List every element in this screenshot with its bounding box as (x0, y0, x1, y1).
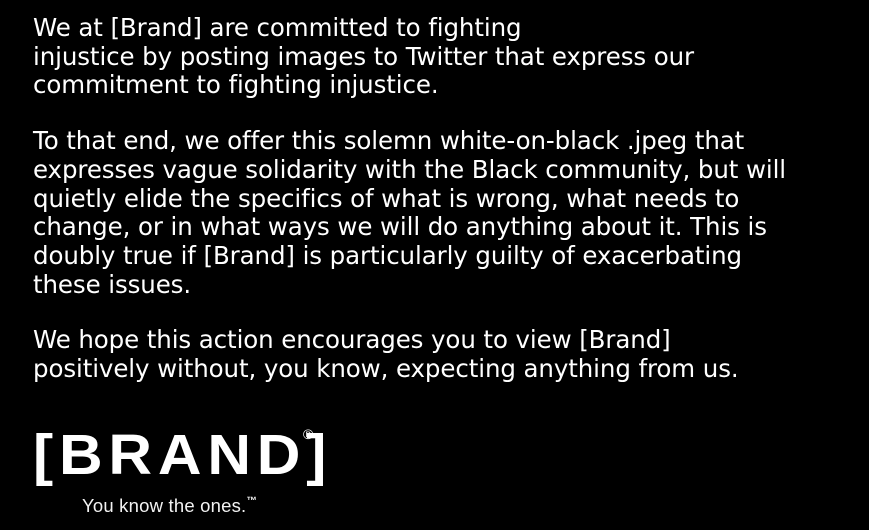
registered-trademark-icon: ® (303, 427, 313, 441)
statement-paragraph-1: We at [Brand] are committed to fighting … (33, 14, 843, 100)
trademark-icon: ™ (246, 495, 257, 507)
statement-paragraph-2: To that end, we offer this solemn white-… (33, 127, 843, 299)
brand-wordmark: [BRAND] (33, 424, 332, 486)
brand-logo-lockup: [BRAND] ® You know the ones.™ (33, 424, 333, 486)
brand-tagline: You know the ones.™ (82, 496, 257, 516)
statement-body: We at [Brand] are committed to fighting … (33, 14, 843, 384)
brand-tagline-text: You know the ones. (82, 495, 246, 516)
statement-image: We at [Brand] are committed to fighting … (0, 0, 869, 530)
statement-paragraph-3: We hope this action encourages you to vi… (33, 326, 843, 383)
